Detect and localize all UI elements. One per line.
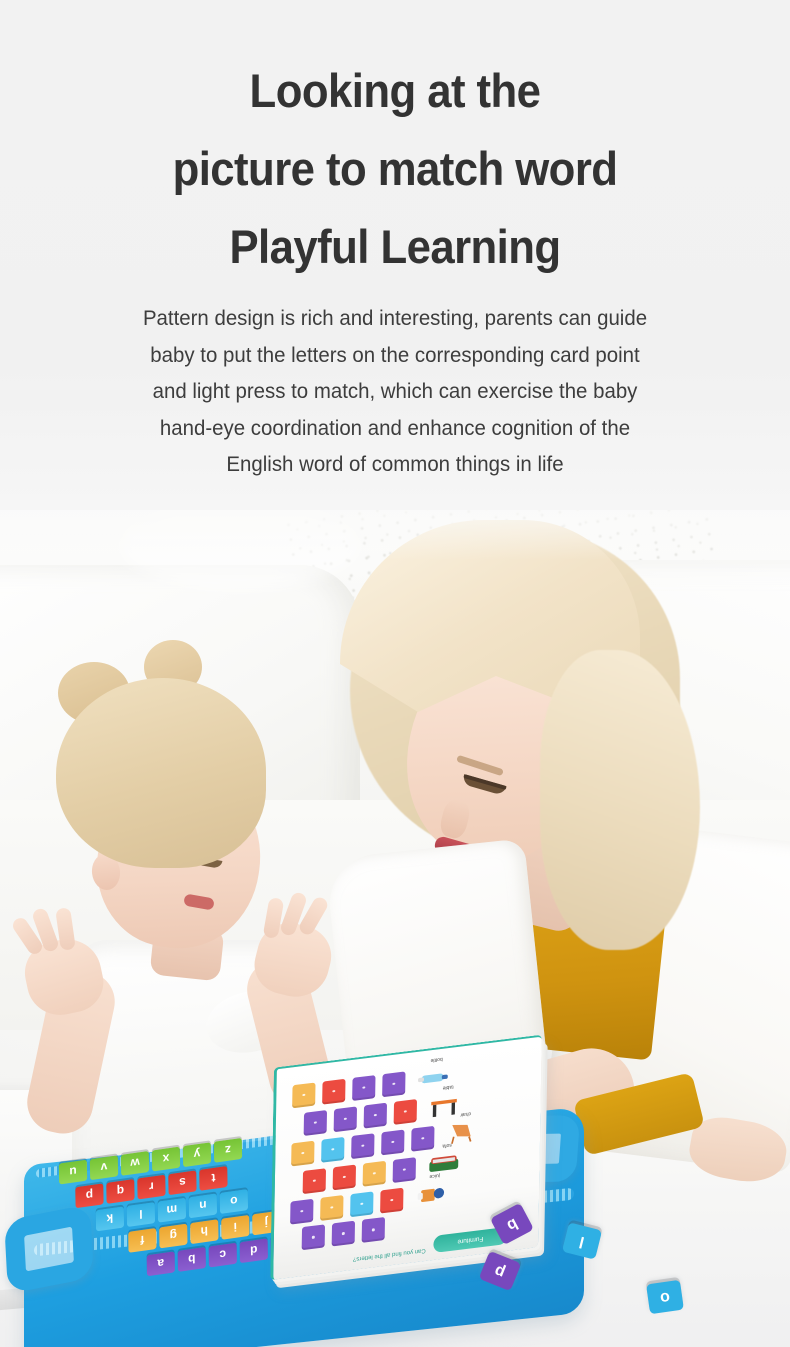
letter-slot[interactable] [322, 1078, 345, 1104]
subcopy-line-1: Pattern design is rich and interesting, … [20, 300, 771, 337]
letter-tile-u[interactable]: u [59, 1160, 87, 1185]
letter-tile-a[interactable]: a [147, 1251, 175, 1276]
letter-tile-g[interactable]: g [159, 1224, 187, 1249]
marketing-copy-block: Looking at the picture to match word Pla… [0, 0, 790, 510]
matching-book[interactable]: bottletablechairsofajuice Furniture Can … [270, 1024, 564, 1290]
letter-slot[interactable] [363, 1160, 386, 1186]
subcopy-line-2: baby to put the letters on the correspon… [20, 337, 771, 374]
letter-tile-x[interactable]: x [152, 1147, 180, 1172]
letter-tile-n[interactable]: n [189, 1193, 217, 1218]
letter-tile-k[interactable]: k [96, 1206, 124, 1231]
letter-tile-m[interactable]: m [158, 1198, 186, 1223]
letter-slot[interactable] [334, 1106, 357, 1132]
letter-slot[interactable] [393, 1157, 416, 1183]
letter-tile-f[interactable]: f [128, 1228, 156, 1253]
letter-tile-r[interactable]: r [137, 1175, 165, 1200]
letter-slot[interactable] [362, 1217, 385, 1243]
subcopy-line-3: and light press to match, which can exer… [20, 373, 771, 410]
letter-tile-w[interactable]: w [121, 1151, 149, 1176]
letter-slot[interactable] [290, 1198, 313, 1224]
letter-slot[interactable] [321, 1136, 344, 1162]
letter-tile-b[interactable]: b [178, 1247, 206, 1272]
picture-label: bottle [417, 1054, 457, 1065]
product-marketing-page: abcde fghij klmno pqrst uvwxyz bottletab… [0, 0, 790, 1347]
description-paragraph: Pattern design is rich and interesting, … [20, 300, 771, 483]
letter-tile-s[interactable]: s [168, 1170, 196, 1195]
lifestyle-photo: abcde fghij klmno pqrst uvwxyz bottletab… [0, 470, 790, 1347]
headline-line-3: Playful Learning [28, 208, 763, 286]
letter-slot[interactable] [382, 1071, 405, 1097]
letter-slot[interactable] [351, 1133, 374, 1159]
letter-slot[interactable] [394, 1098, 417, 1124]
alphabet-matching-toy[interactable]: abcde fghij klmno pqrst uvwxyz bottletab… [10, 1040, 630, 1347]
letter-slot[interactable] [303, 1168, 326, 1194]
headline-line-1: Looking at the [28, 52, 763, 130]
letter-slot[interactable] [291, 1140, 314, 1166]
letter-tile-t[interactable]: t [199, 1166, 227, 1191]
child-hair [56, 678, 266, 868]
letter-slot[interactable] [320, 1195, 343, 1221]
subcopy-line-5: English word of common things in life [20, 446, 771, 483]
letter-tile-y[interactable]: y [183, 1142, 211, 1167]
letter-slot[interactable] [380, 1187, 403, 1213]
letter-tile-l[interactable]: l [127, 1202, 155, 1227]
letter-slot[interactable] [364, 1102, 387, 1128]
page-title: Looking at the picture to match word Pla… [28, 52, 763, 286]
book-page-stack: bottletablechairsofajuice Furniture Can … [270, 1035, 542, 1280]
letter-slot[interactable] [302, 1224, 325, 1250]
letter-tile-v[interactable]: v [90, 1155, 118, 1180]
letter-tile-h[interactable]: h [190, 1219, 218, 1244]
letter-tile-i[interactable]: i [221, 1215, 249, 1240]
letter-slot[interactable] [350, 1191, 373, 1217]
letter-tile-q[interactable]: q [106, 1179, 134, 1204]
letter-slot[interactable] [352, 1075, 375, 1101]
letter-tile-z[interactable]: z [214, 1138, 242, 1163]
letter-tile-p[interactable]: p [75, 1183, 103, 1208]
letter-slot[interactable] [332, 1221, 355, 1247]
letter-slot[interactable] [304, 1110, 327, 1136]
letter-tile-c[interactable]: c [209, 1243, 237, 1268]
letter-slot[interactable] [333, 1164, 356, 1190]
headline-line-2: picture to match word [28, 130, 763, 208]
letter-slot[interactable] [292, 1082, 315, 1108]
letter-tile-d[interactable]: d [240, 1238, 268, 1263]
juice-icon: juice [414, 1180, 448, 1210]
letter-slot[interactable] [381, 1129, 404, 1155]
letter-tile-o[interactable]: o [220, 1189, 248, 1214]
subcopy-line-4: hand-eye coordination and enhance cognit… [20, 410, 771, 447]
loose-letter-tile-o[interactable]: o [646, 1280, 684, 1314]
